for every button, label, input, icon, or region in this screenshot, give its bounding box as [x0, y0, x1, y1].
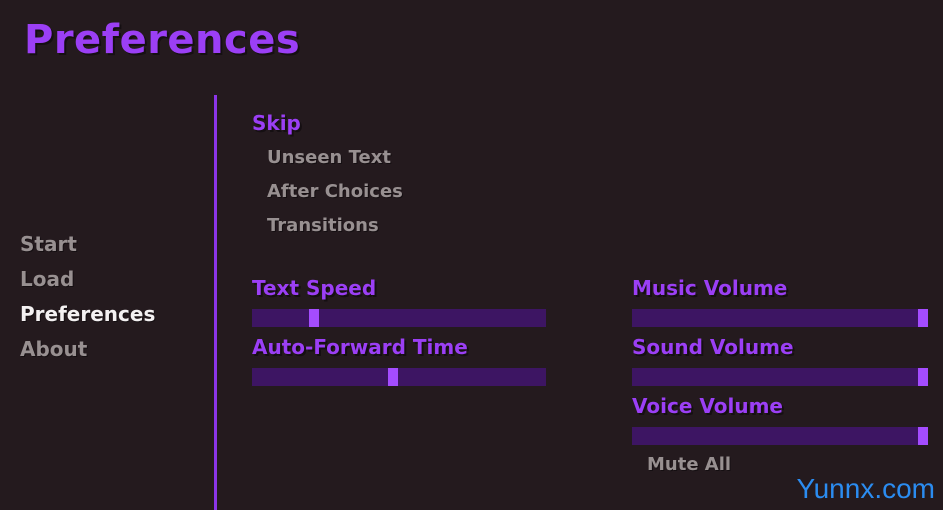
- page-title: Preferences: [24, 20, 300, 60]
- sidebar-item-start[interactable]: Start: [20, 234, 200, 254]
- slider-thumb-text-speed[interactable]: [309, 309, 319, 327]
- slider-sound-volume: Sound Volume: [632, 337, 928, 386]
- skip-option-unseen-text[interactable]: Unseen Text: [267, 149, 403, 167]
- left-slider-group: Text Speed Auto-Forward Time: [252, 278, 546, 396]
- slider-track-music-volume[interactable]: [632, 309, 928, 327]
- skip-section: Skip Unseen Text After Choices Transitio…: [252, 113, 403, 235]
- slider-thumb-auto-forward-time[interactable]: [388, 368, 398, 386]
- slider-label-sound-volume: Sound Volume: [632, 337, 928, 357]
- slider-track-auto-forward-time[interactable]: [252, 368, 546, 386]
- vertical-divider: [214, 95, 217, 510]
- slider-label-text-speed: Text Speed: [252, 278, 546, 298]
- skip-option-after-choices[interactable]: After Choices: [267, 183, 403, 201]
- slider-track-text-speed[interactable]: [252, 309, 546, 327]
- skip-heading: Skip: [252, 113, 403, 133]
- slider-label-music-volume: Music Volume: [632, 278, 928, 298]
- skip-option-transitions[interactable]: Transitions: [267, 217, 403, 235]
- preferences-screen: Preferences Start Load Preferences About…: [0, 0, 943, 510]
- sidebar-item-about[interactable]: About: [20, 339, 200, 359]
- slider-track-sound-volume[interactable]: [632, 368, 928, 386]
- slider-auto-forward-time: Auto-Forward Time: [252, 337, 546, 386]
- sidebar-item-preferences[interactable]: Preferences: [20, 304, 200, 324]
- slider-label-voice-volume: Voice Volume: [632, 396, 928, 416]
- slider-label-auto-forward-time: Auto-Forward Time: [252, 337, 546, 357]
- sidebar-nav: Start Load Preferences About: [20, 234, 200, 374]
- slider-text-speed: Text Speed: [252, 278, 546, 327]
- mute-all-toggle[interactable]: Mute All: [647, 456, 731, 474]
- watermark: Yunnx.com: [796, 475, 935, 503]
- slider-music-volume: Music Volume: [632, 278, 928, 327]
- right-slider-group: Music Volume Sound Volume Voice Volume: [632, 278, 928, 455]
- slider-thumb-sound-volume[interactable]: [918, 368, 928, 386]
- slider-track-voice-volume[interactable]: [632, 427, 928, 445]
- slider-voice-volume: Voice Volume: [632, 396, 928, 445]
- sidebar-item-load[interactable]: Load: [20, 269, 200, 289]
- slider-thumb-voice-volume[interactable]: [918, 427, 928, 445]
- slider-thumb-music-volume[interactable]: [918, 309, 928, 327]
